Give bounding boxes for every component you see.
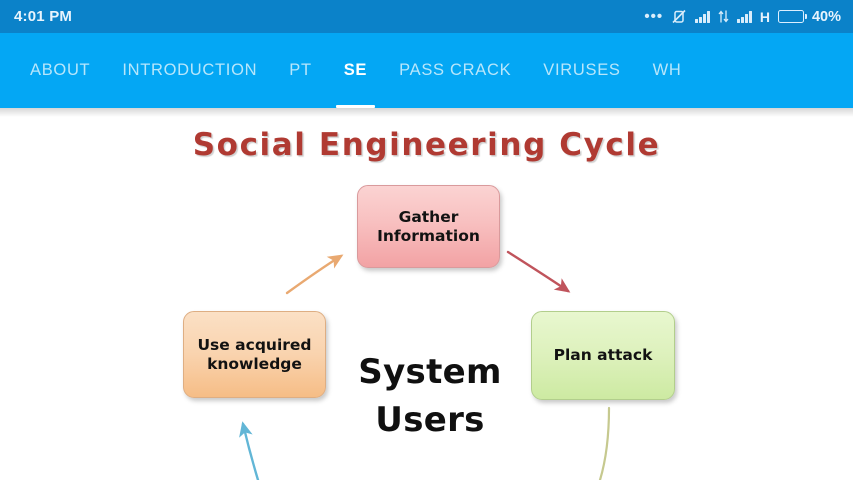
status-bar: 4:01 PM ••• H 40% <box>0 0 853 33</box>
node-use-acquired-knowledge-label: Use acquired knowledge <box>197 336 311 374</box>
arrow-next-to-use <box>243 424 258 480</box>
arrow-gather-to-plan <box>508 252 568 291</box>
tab-se[interactable]: SE <box>328 33 383 108</box>
diagram-center-label: System Users <box>330 348 530 445</box>
tab-about[interactable]: ABOUT <box>14 33 106 108</box>
more-dots-icon: ••• <box>644 12 663 22</box>
tab-pass-crack[interactable]: PASS CRACK <box>383 33 527 108</box>
center-label-line1: System <box>330 348 530 396</box>
status-clock: 4:01 PM <box>14 8 72 25</box>
tab-viruses[interactable]: VIRUSES <box>527 33 636 108</box>
vibrate-off-icon <box>671 9 687 24</box>
node-plan-attack-label: Plan attack <box>554 346 653 365</box>
arrow-use-to-gather <box>287 256 341 293</box>
node-gather-information-label: Gather Information <box>377 208 480 246</box>
network-type-label: H <box>760 10 770 24</box>
data-transfer-icon <box>718 10 729 23</box>
content-area[interactable]: Social Engineering Cycle <box>0 108 853 480</box>
node-use-acquired-knowledge[interactable]: Use acquired knowledge <box>183 311 326 398</box>
center-label-line2: Users <box>330 396 530 444</box>
node-plan-attack[interactable]: Plan attack <box>531 311 675 400</box>
arrow-plan-to-next <box>600 408 609 480</box>
tab-bar[interactable]: ABOUT INTRODUCTION PT SE PASS CRACK VIRU… <box>0 33 853 108</box>
signal-bars-icon <box>695 10 710 23</box>
tab-pt[interactable]: PT <box>273 33 327 108</box>
app-screen: 4:01 PM ••• H 40% <box>0 0 853 480</box>
signal-bars-2-icon <box>737 10 752 23</box>
status-icons: ••• H 40% <box>644 9 841 25</box>
tab-wh[interactable]: WH <box>637 33 698 108</box>
tab-introduction[interactable]: INTRODUCTION <box>106 33 273 108</box>
battery-percent-label: 40% <box>812 9 841 25</box>
node-gather-information[interactable]: Gather Information <box>357 185 500 268</box>
battery-icon <box>778 10 804 23</box>
